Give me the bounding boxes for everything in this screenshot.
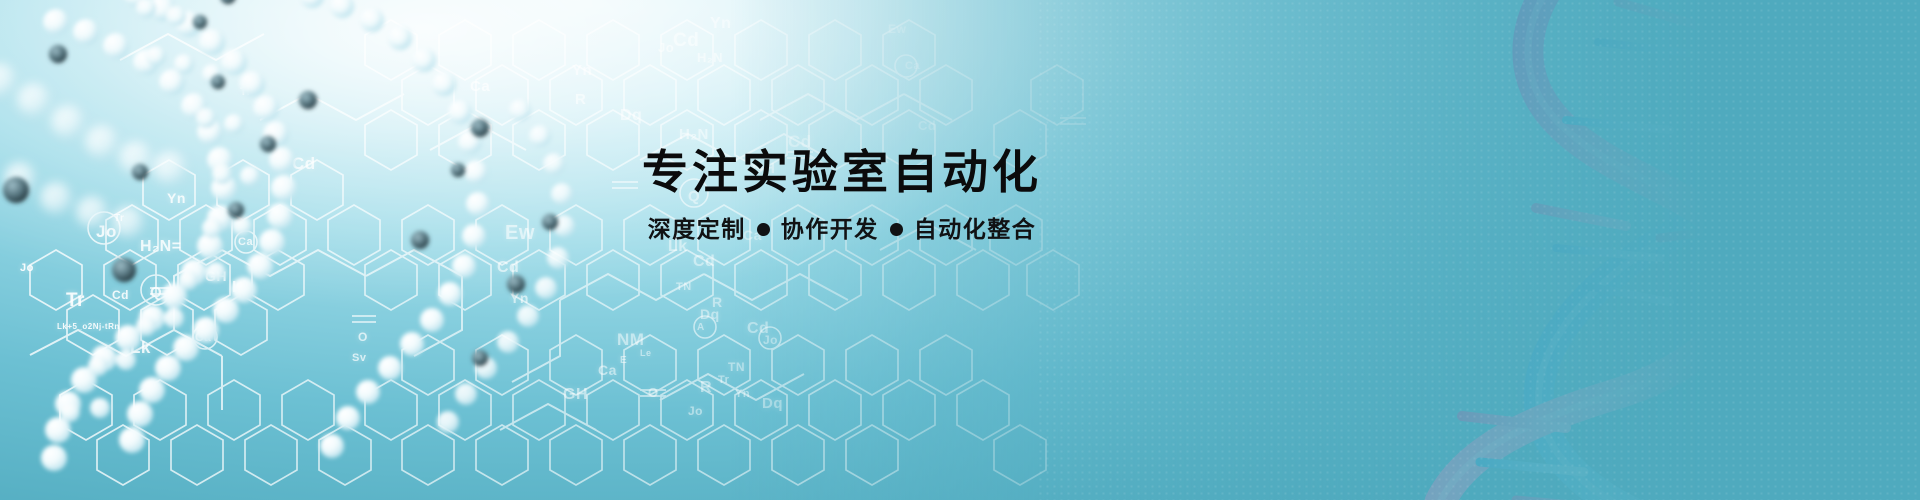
bead-dna-illustration	[0, 0, 720, 500]
bullet-separator-icon	[890, 223, 903, 236]
banner-headline: 专注实验室自动化	[612, 148, 1072, 198]
hero-banner: TrLkLkJoTrH₂N=GHQCaYnLk+5_o2Nj-tRnCdCaCd…	[0, 0, 1920, 500]
banner-subtitle: 深度定制 协作开发 自动化整合	[612, 216, 1072, 244]
banner-copy: 专注实验室自动化 深度定制 协作开发 自动化整合	[612, 148, 1072, 243]
subtitle-item-1: 深度定制	[648, 216, 746, 244]
subtitle-item-3: 自动化整合	[914, 216, 1037, 244]
subtitle-item-2: 协作开发	[781, 216, 879, 244]
halftone-texture	[1037, 0, 1920, 500]
bullet-separator-icon	[757, 223, 770, 236]
